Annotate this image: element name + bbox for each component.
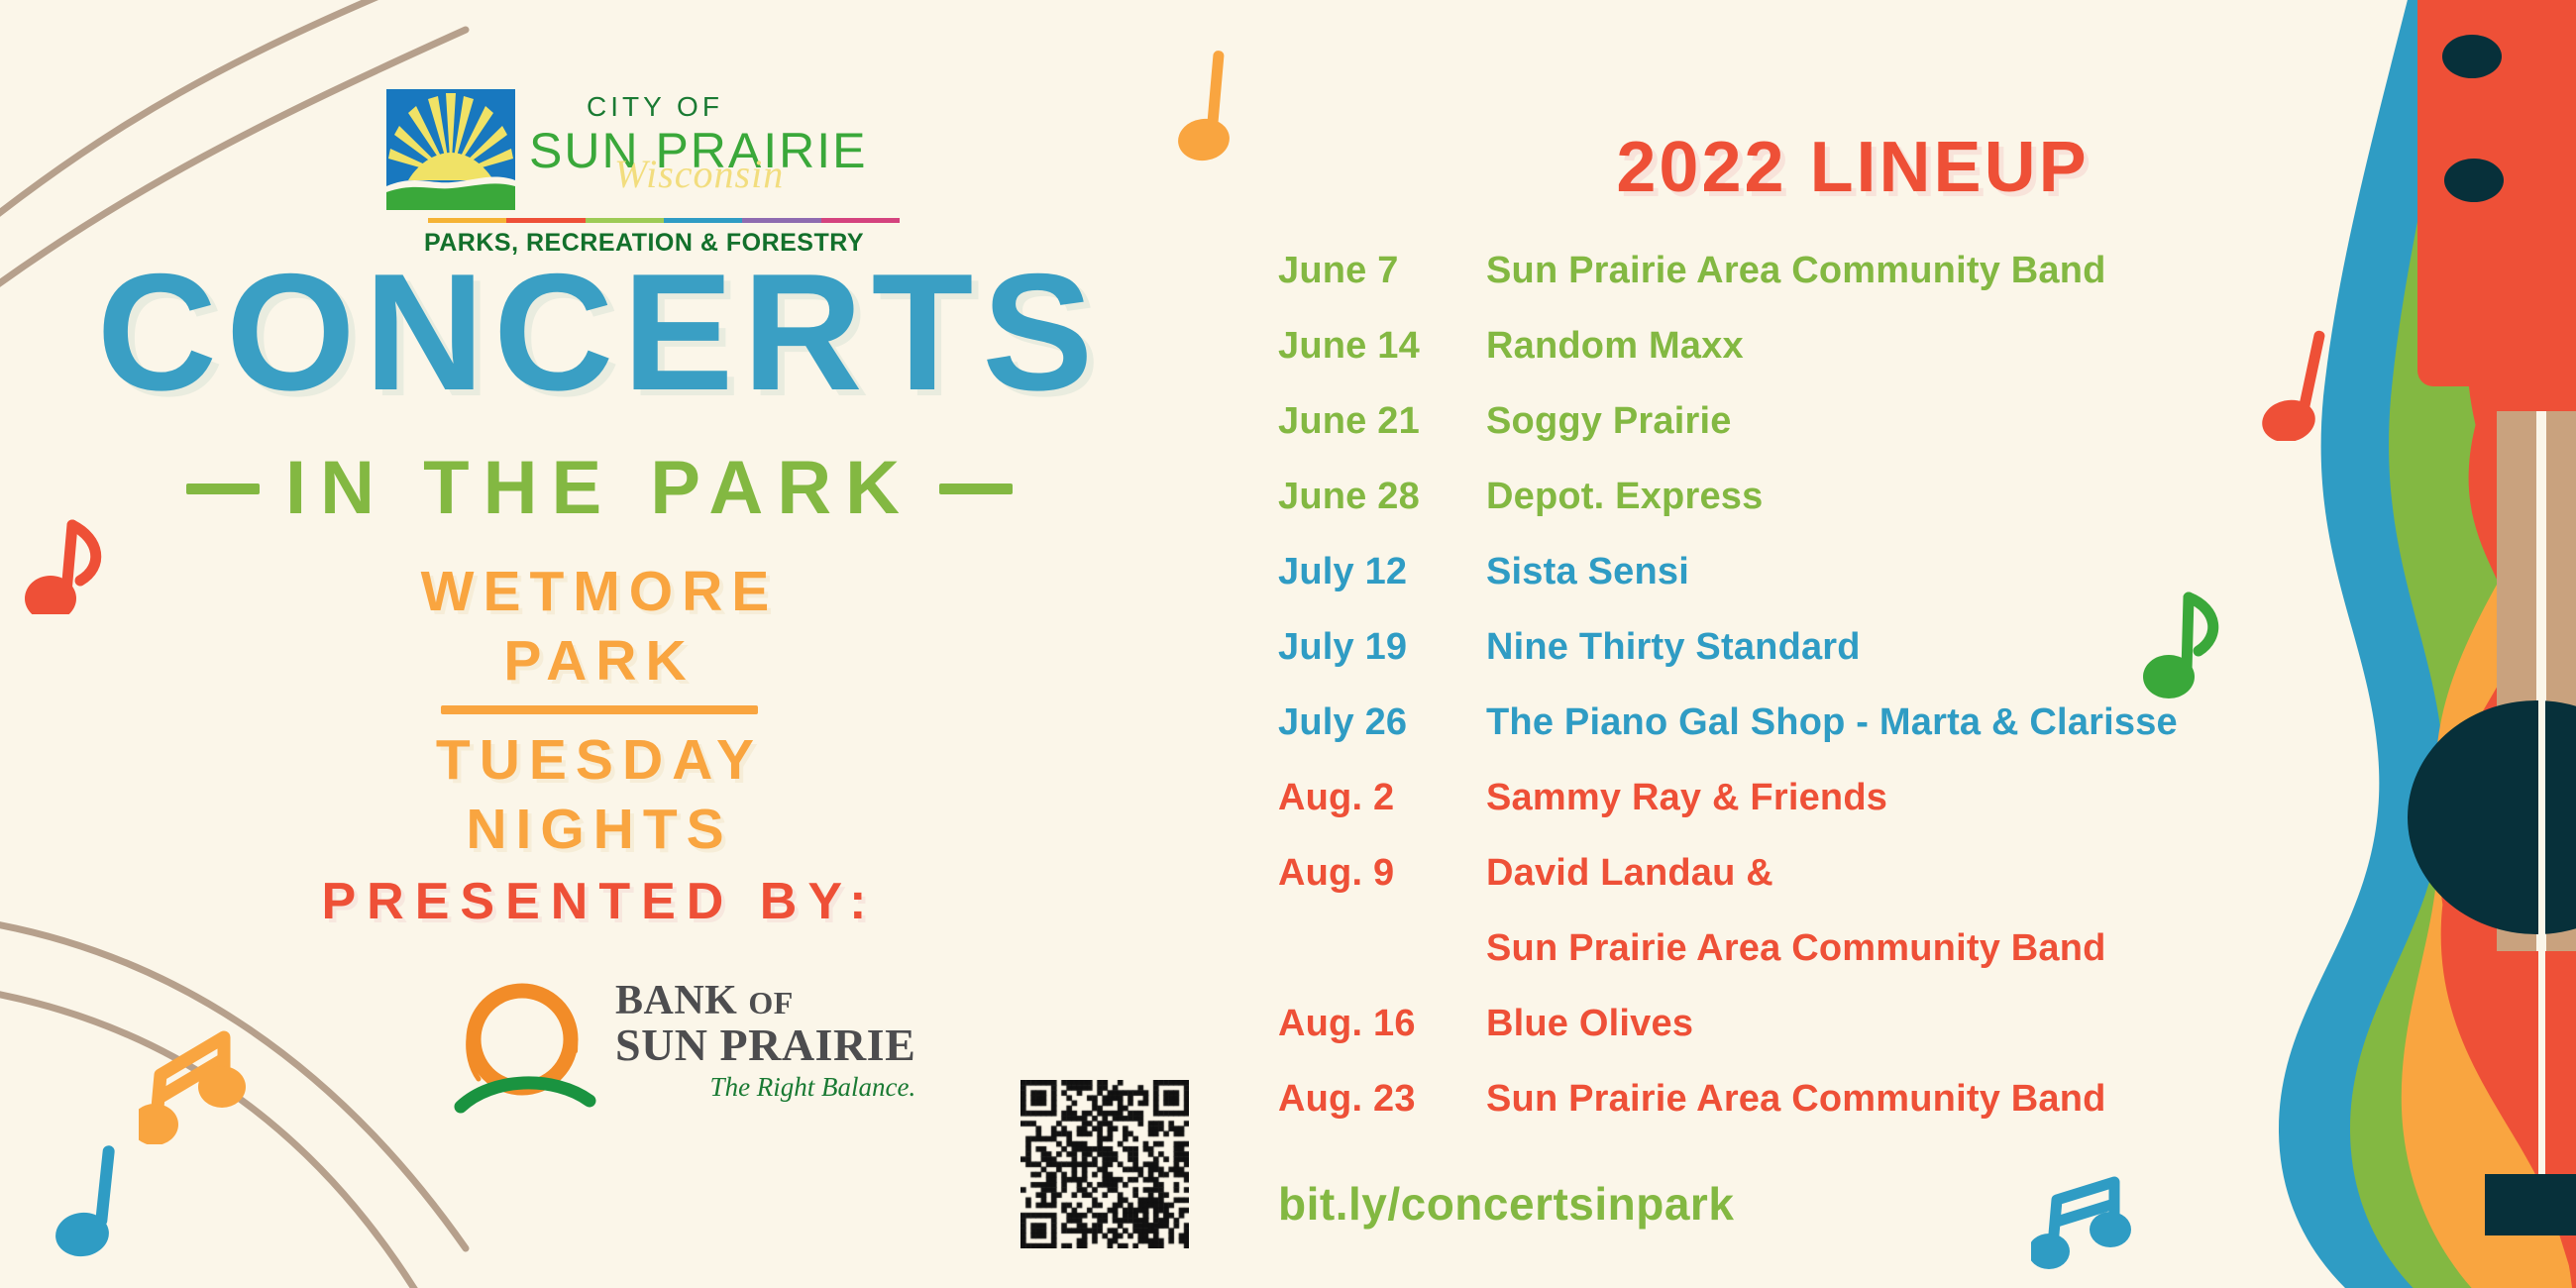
lineup-row: Aug. 9David Landau & (1278, 852, 2388, 927)
bank-name-line-2: SUN PRAIRIE (615, 1022, 915, 1069)
right-column: 2022 LINEUP June 7Sun Prairie Area Commu… (1278, 0, 2388, 1288)
lineup-row: Aug. 16Blue Olives (1278, 1003, 2388, 1078)
lineup-list: June 7Sun Prairie Area Community BandJun… (1278, 250, 2388, 1153)
lineup-row: July 26The Piano Gal Shop - Marta & Clar… (1278, 701, 2388, 777)
bank-word-of: OF (748, 985, 793, 1020)
sunrise-over-prairie-icon (386, 89, 515, 214)
bank-word-bank: BANK (615, 978, 737, 1023)
presented-by-label: PRESENTED BY: (0, 872, 1199, 931)
orange-brush-circle-with-green-hill-icon (451, 966, 601, 1117)
lineup-date: July 12 (1278, 551, 1486, 593)
city-of-label: CITY OF (587, 93, 868, 121)
lineup-date: July 26 (1278, 701, 1486, 744)
venue-line-1: WETMORE (0, 558, 1199, 627)
lineup-band: Sun Prairie Area Community Band (1486, 1078, 2106, 1121)
lineup-band: Sun Prairie Area Community Band (1486, 250, 2106, 292)
lineup-date: June 28 (1278, 476, 1486, 518)
lineup-date: Aug. 9 (1278, 852, 1486, 895)
lineup-date: June 21 (1278, 400, 1486, 443)
lineup-band: Nine Thirty Standard (1486, 626, 1861, 669)
venue-line-4: NIGHTS (0, 796, 1199, 865)
lineup-row: June 7Sun Prairie Area Community Band (1278, 250, 2388, 325)
dash-left (186, 483, 260, 494)
page-subtitle: IN THE PARK (285, 451, 913, 526)
lineup-row: July 12Sista Sensi (1278, 551, 2388, 626)
lineup-row: June 21Soggy Prairie (1278, 400, 2388, 476)
lineup-row: July 19Nine Thirty Standard (1278, 626, 2388, 701)
lineup-date: Aug. 23 (1278, 1078, 1486, 1121)
page-title: CONCERTS (0, 253, 1199, 412)
subtitle-row: IN THE PARK (0, 451, 1199, 526)
left-column: CITY OF SUN PRAIRIE Wisconsin PARKS, REC… (0, 0, 1199, 1288)
lineup-band: Blue Olives (1486, 1003, 1693, 1045)
venue-block: WETMORE PARK TUESDAY NIGHTS (0, 558, 1199, 864)
wisconsin-script-label: Wisconsin (614, 151, 784, 197)
lineup-row: Sun Prairie Area Community Band (1278, 927, 2388, 1003)
bank-tagline: The Right Balance. (615, 1072, 915, 1103)
lineup-date: June 14 (1278, 325, 1486, 368)
lineup-band: Soggy Prairie (1486, 400, 1732, 443)
lineup-band: Depot. Express (1486, 476, 1763, 518)
venue-line-3: TUESDAY (0, 726, 1199, 796)
lineup-band: Sista Sensi (1486, 551, 1689, 593)
venue-line-2: PARK (0, 627, 1199, 697)
lineup-date: July 19 (1278, 626, 1486, 669)
lineup-url[interactable]: bit.ly/concertsinpark (1278, 1177, 2388, 1231)
lineup-row: June 28Depot. Express (1278, 476, 2388, 551)
poster-canvas: CITY OF SUN PRAIRIE Wisconsin PARKS, REC… (0, 0, 2576, 1288)
lineup-row: Aug. 23Sun Prairie Area Community Band (1278, 1078, 2388, 1153)
lineup-band: Sun Prairie Area Community Band (1486, 927, 2106, 970)
dash-right (939, 483, 1013, 494)
lineup-band: The Piano Gal Shop - Marta & Clarisse (1486, 701, 2178, 744)
lineup-date: Aug. 16 (1278, 1003, 1486, 1045)
bank-name-line-1: BANK OF (615, 980, 915, 1022)
qr-code-icon[interactable] (1020, 1080, 1189, 1248)
lineup-title: 2022 LINEUP (1278, 127, 2388, 208)
venue-divider (441, 705, 758, 714)
city-of-sun-prairie-logo: CITY OF SUN PRAIRIE Wisconsin PARKS, REC… (386, 89, 902, 258)
lineup-band: David Landau & (1486, 852, 1773, 895)
lineup-band: Random Maxx (1486, 325, 1744, 368)
lineup-row: June 14Random Maxx (1278, 325, 2388, 400)
logo-color-rule (428, 218, 900, 223)
lineup-row: Aug. 2Sammy Ray & Friends (1278, 777, 2388, 852)
lineup-band: Sammy Ray & Friends (1486, 777, 1887, 819)
lineup-date: Aug. 2 (1278, 777, 1486, 819)
lineup-date: June 7 (1278, 250, 1486, 292)
bank-of-sun-prairie-logo: BANK OF SUN PRAIRIE The Right Balance. (451, 966, 915, 1117)
